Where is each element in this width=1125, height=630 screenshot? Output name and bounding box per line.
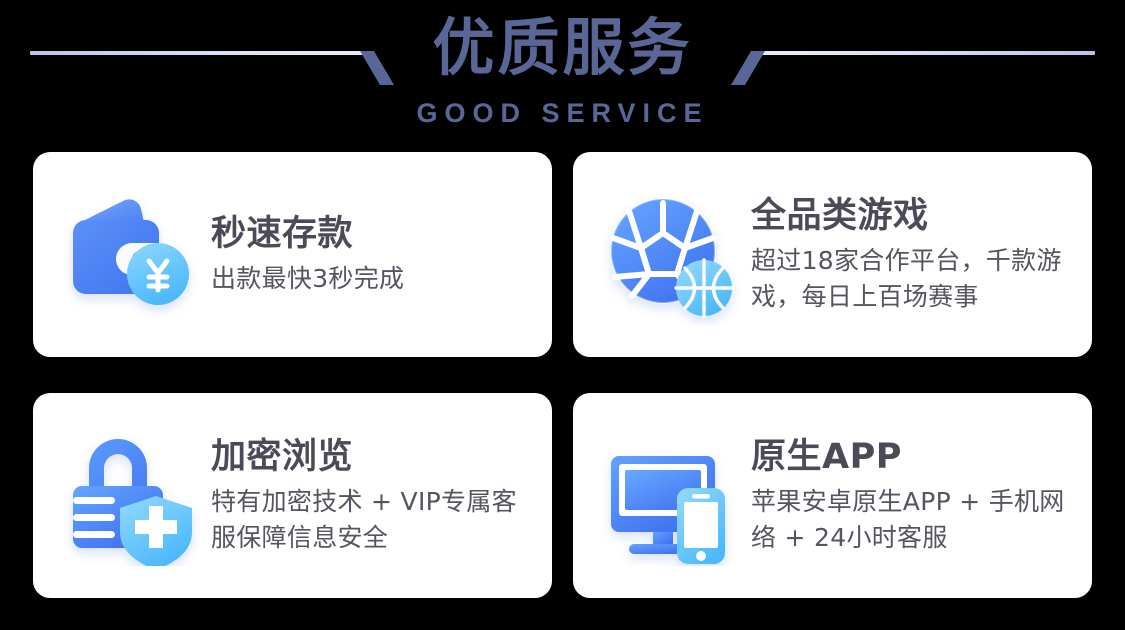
feature-card-native-app[interactable]: 原生APP 苹果安卓原生APP + 手机网络 + 24小时客服 <box>573 393 1092 598</box>
card-text-block: 原生APP 苹果安卓原生APP + 手机网络 + 24小时客服 <box>751 435 1092 556</box>
card-text-block: 秒速存款 出款最快3秒完成 <box>211 212 552 297</box>
card-description: 特有加密技术 + VIP专属客服保障信息安全 <box>211 484 538 556</box>
page-header: 优质服务 GOOD SERVICE <box>0 0 1125 145</box>
monitor-phone-icon <box>601 426 741 566</box>
promo-banner: 优质服务 GOOD SERVICE <box>0 0 1125 630</box>
feature-card-games[interactable]: 全品类游戏 超过18家合作平台，千款游戏，每日上百场赛事 <box>573 152 1092 357</box>
card-title: 原生APP <box>751 435 1078 479</box>
soccer-basketball-icon <box>601 185 741 325</box>
page-subtitle: GOOD SERVICE <box>0 98 1125 129</box>
card-description: 苹果安卓原生APP + 手机网络 + 24小时客服 <box>751 484 1078 556</box>
page-title: 优质服务 <box>0 8 1125 88</box>
card-title: 全品类游戏 <box>751 194 1078 238</box>
card-description: 超过18家合作平台，千款游戏，每日上百场赛事 <box>751 243 1078 315</box>
wallet-yen-icon <box>61 185 201 325</box>
feature-card-encryption[interactable]: 加密浏览 特有加密技术 + VIP专属客服保障信息安全 <box>33 393 552 598</box>
feature-card-grid: 秒速存款 出款最快3秒完成 <box>33 152 1092 598</box>
card-title: 加密浏览 <box>211 435 538 479</box>
feature-card-deposit[interactable]: 秒速存款 出款最快3秒完成 <box>33 152 552 357</box>
lock-shield-icon <box>61 426 201 566</box>
card-title: 秒速存款 <box>211 212 538 256</box>
card-description: 出款最快3秒完成 <box>211 261 538 297</box>
card-text-block: 全品类游戏 超过18家合作平台，千款游戏，每日上百场赛事 <box>751 194 1092 315</box>
card-text-block: 加密浏览 特有加密技术 + VIP专属客服保障信息安全 <box>211 435 552 556</box>
